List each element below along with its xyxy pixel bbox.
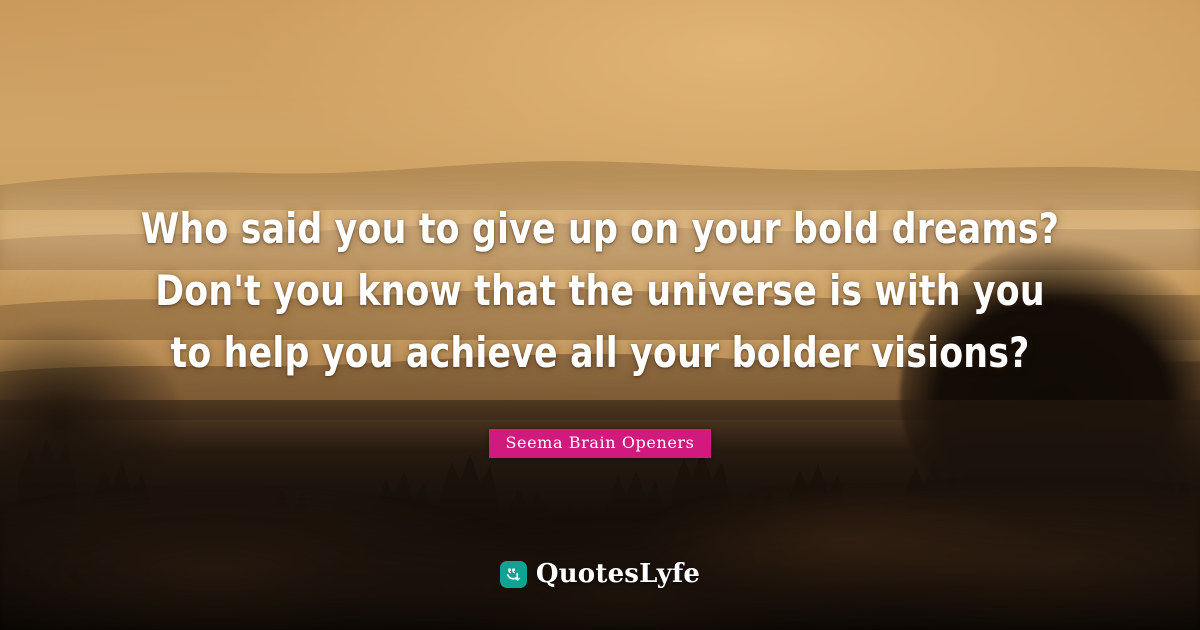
- quote-smiley-icon: [500, 561, 527, 588]
- brand-name: QuotesLyfe: [536, 560, 700, 588]
- author-attribution: Seema Brain Openers: [0, 429, 1200, 458]
- quote-text: Who said you to give up on your bold dre…: [0, 198, 1200, 384]
- brand-logo[interactable]: QuotesLyfe: [0, 560, 1200, 588]
- quote-line-3: to help you achieve all your bolder visi…: [112, 322, 1087, 384]
- quote-line-1: Who said you to give up on your bold dre…: [112, 198, 1087, 260]
- quote-line-2: Don't you know that the universe is with…: [112, 260, 1087, 322]
- author-name-badge[interactable]: Seema Brain Openers: [489, 429, 710, 458]
- quote-card: Who said you to give up on your bold dre…: [0, 0, 1200, 630]
- ground-texture: [0, 430, 1200, 630]
